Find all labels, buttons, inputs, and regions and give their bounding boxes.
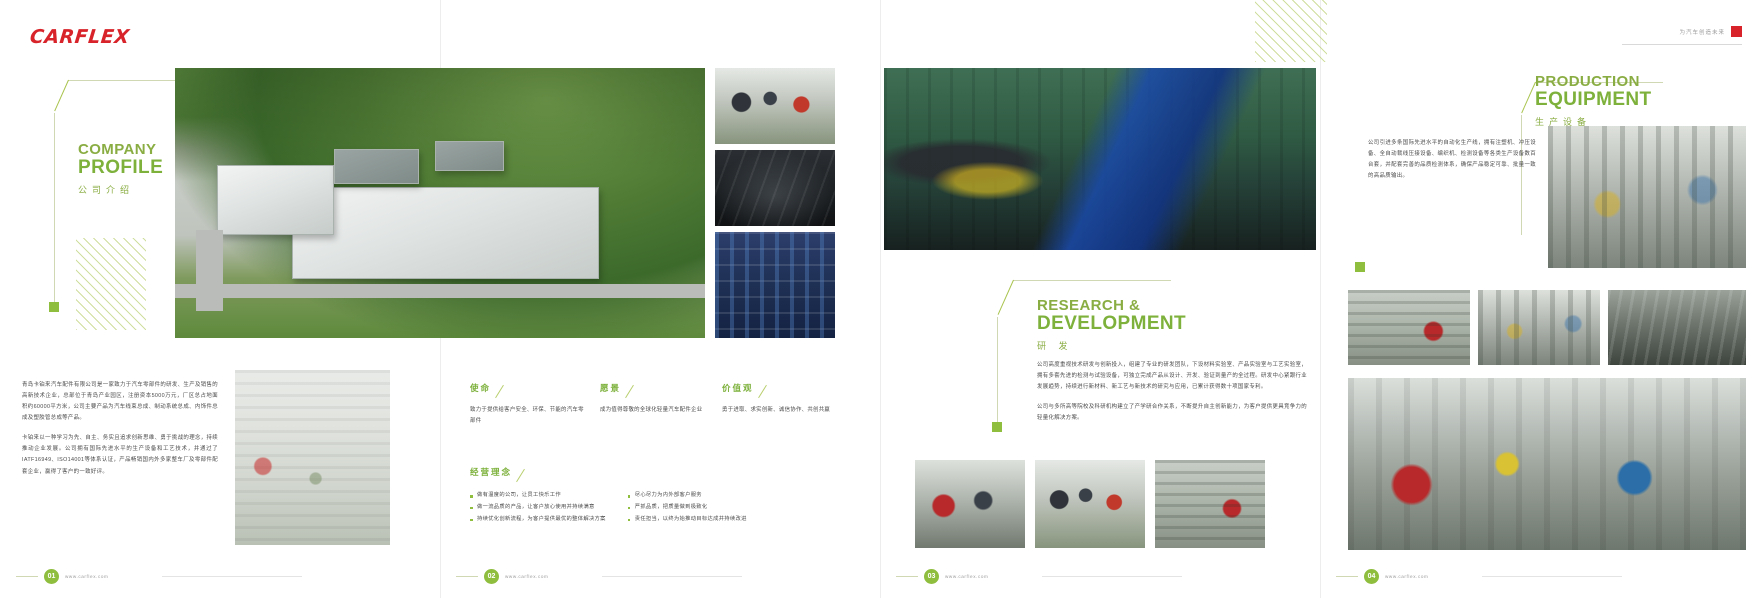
page-footer-04: 04 www.carflex.com — [1336, 569, 1622, 584]
list-item: 做有温度的公司，让员工快乐工作 — [470, 490, 606, 502]
heading-cn: 研 发 — [1037, 339, 1186, 352]
body-paragraph: 公司引进多条国际先进水平的自动化生产线，拥有注塑机、冲压设备、全自动裁线压接设备… — [1368, 138, 1536, 182]
photo-equipment-detail-1 — [1348, 290, 1470, 365]
photo-robot-arm — [884, 68, 1316, 250]
footer-bar — [1336, 576, 1358, 577]
list-item: 做一流品质的产品，让客户放心使用并持续满意 — [470, 502, 606, 514]
page-seam-3 — [1320, 0, 1321, 598]
list-item: 持续优化创新流程，为客户提供最优的整体解决方案 — [470, 514, 606, 526]
footer-url: www.carflex.com — [945, 574, 988, 579]
page-seam-2 — [880, 0, 881, 598]
list-item: 尽心尽力为内外部客户服务 — [628, 490, 747, 502]
heading-en-line2: DEVELOPMENT — [1037, 314, 1186, 335]
hatch-texture-top — [1255, 0, 1327, 62]
heading-en-line1: COMPANY — [78, 142, 163, 158]
business-philosophy-block: 经营理念 做有温度的公司，让员工快乐工作 做一流品质的产品，让客户放心使用并持续… — [470, 462, 747, 526]
value-heading: 使命 — [470, 382, 491, 394]
footer-bar — [16, 576, 38, 577]
carflex-logo: CARFLEX — [29, 26, 131, 48]
page-title-research-development: RESEARCH & DEVELOPMENT 研 发 — [1037, 298, 1186, 352]
value-text: 成为值得尊敬的全球化轻量汽车配件企业 — [600, 405, 718, 416]
footer-bar — [896, 576, 918, 577]
heading-en-line1: PRODUCTION — [1535, 74, 1652, 90]
corner-rule — [1622, 44, 1742, 45]
value-text: 致力于提供给客户安全、环保、节能的汽车零部件 — [470, 405, 588, 427]
list-item: 严抓品质，把质量做到极致化 — [628, 502, 747, 514]
value-column-mission: 使命 致力于提供给客户安全、环保、节能的汽车零部件 — [470, 378, 588, 427]
footer-tail — [1482, 576, 1622, 577]
photo-equipment-detail-2 — [1478, 290, 1600, 365]
list-item: 责任担当，以终为始推动目标达成并持续改进 — [628, 514, 747, 526]
page-number: 03 — [924, 569, 939, 584]
corner-mark-label: 为汽车创造未来 — [1679, 28, 1725, 36]
footer-url: www.carflex.com — [65, 574, 108, 579]
philosophy-heading: 经营理念 — [470, 466, 512, 478]
footer-url: www.carflex.com — [505, 574, 548, 579]
value-column-vision: 愿景 成为值得尊敬的全球化轻量汽车配件企业 — [600, 378, 718, 416]
corner-mark-square — [1731, 26, 1742, 37]
page-title-company-profile: COMPANY PROFILE 公司介绍 — [78, 142, 163, 196]
hatch-texture-p1 — [76, 238, 146, 330]
body-paragraph: 公司高度重视技术研发与创新投入，组建了专业的研发团队，下设材料实验室、产品实验室… — [1037, 360, 1307, 393]
heading-en-line2: EQUIPMENT — [1535, 90, 1652, 111]
footer-tail — [1042, 576, 1182, 577]
photo-open-office — [235, 370, 390, 545]
page-title-production-equipment: PRODUCTION EQUIPMENT 生产设备 — [1535, 74, 1652, 128]
page-footer-02: 02 www.carflex.com — [456, 569, 742, 584]
photo-warehouse-racks — [715, 232, 835, 338]
page-number: 02 — [484, 569, 499, 584]
body-paragraph: 公司与多所高等院校及科研机构建立了产学研合作关系，不断提升自主创新能力，为客户提… — [1037, 402, 1307, 424]
body-paragraph: 青岛卡铂来汽车配件有限公司是一家致力于汽车零部件的研发、生产及销售的高新技术企业… — [22, 380, 218, 424]
footer-tail — [162, 576, 302, 577]
heading-cn: 公司介绍 — [78, 183, 163, 196]
photo-aerial-factory — [175, 68, 705, 338]
body-paragraph: 卡铂来以一种学习为先、自主、务实且追求创新思维、勇于挑战的理念，持续推动企业发展… — [22, 433, 218, 477]
corner-brand-mark: 为汽车创造未来 — [1679, 26, 1742, 37]
photo-production-line — [715, 150, 835, 226]
footer-bar — [456, 576, 478, 577]
photo-meeting-room — [715, 68, 835, 144]
page-footer-03: 03 www.carflex.com — [896, 569, 1182, 584]
photo-equipment-detail-3 — [1608, 290, 1746, 365]
page-number: 04 — [1364, 569, 1379, 584]
heading-en-line1: RESEARCH & — [1037, 298, 1186, 314]
philosophy-list-left: 做有温度的公司，让员工快乐工作 做一流品质的产品，让客户放心使用并持续满意 持续… — [470, 490, 606, 526]
production-equipment-body: 公司引进多条国际先进水平的自动化生产线，拥有注塑机、冲压设备、全自动裁线压接设备… — [1368, 138, 1536, 191]
footer-url: www.carflex.com — [1385, 574, 1428, 579]
photo-factory-floor — [1348, 378, 1746, 550]
company-profile-body: 青岛卡铂来汽车配件有限公司是一家致力于汽车零部件的研发、生产及销售的高新技术企业… — [22, 380, 218, 487]
photo-rd-testing — [1035, 460, 1145, 548]
brochure-spread: CARFLEX COMPANY PROFILE 公司介绍 青岛卡铂来汽车配件有限… — [0, 0, 1760, 598]
value-column-values: 价值观 勇于进取、求实创新、诚信协作、共创共赢 — [722, 378, 840, 416]
research-development-body: 公司高度重视技术研发与创新投入，组建了专业的研发团队，下设材料实验室、产品实验室… — [1037, 360, 1307, 433]
photo-rd-team — [915, 460, 1025, 548]
value-heading: 价值观 — [722, 382, 754, 394]
value-heading: 愿景 — [600, 382, 621, 394]
footer-tail — [602, 576, 742, 577]
photo-rd-control-panel — [1155, 460, 1265, 548]
page-number: 01 — [44, 569, 59, 584]
philosophy-list-right: 尽心尽力为内外部客户服务 严抓品质，把质量做到极致化 责任担当，以终为始推动目标… — [628, 490, 747, 526]
value-text: 勇于进取、求实创新、诚信协作、共创共赢 — [722, 405, 840, 416]
photo-equipment-line — [1548, 126, 1746, 268]
heading-en-line2: PROFILE — [78, 158, 163, 179]
page-footer-01: 01 www.carflex.com — [16, 569, 302, 584]
